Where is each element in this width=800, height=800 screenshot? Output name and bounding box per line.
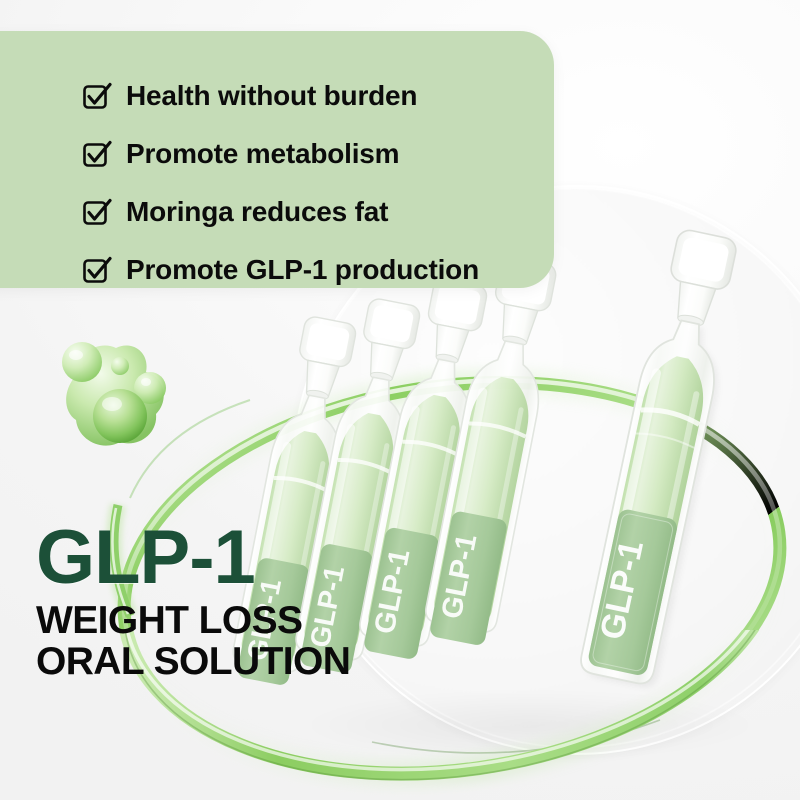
checkbox-checked-icon xyxy=(82,197,112,227)
feature-row: Health without burden xyxy=(82,75,479,117)
checkbox-checked-icon xyxy=(82,255,112,285)
feature-label: Moringa reduces fat xyxy=(126,198,388,226)
feature-row: Promote metabolism xyxy=(82,133,479,175)
headline-line-2: ORAL SOLUTION xyxy=(36,642,396,683)
features-list: Health without burden Promote metabolism xyxy=(82,75,479,291)
feature-label: Promote GLP-1 production xyxy=(126,256,479,284)
product-poster: GLP-1 GLP-1 xyxy=(0,0,800,800)
checkbox-checked-icon xyxy=(82,139,112,169)
headline-line-1: WEIGHT LOSS xyxy=(36,601,396,642)
features-panel: Health without burden Promote metabolism xyxy=(0,31,554,288)
brand-title: GLP-1 xyxy=(36,522,396,593)
feature-label: Promote metabolism xyxy=(126,140,399,168)
headline-block: GLP-1 WEIGHT LOSS ORAL SOLUTION xyxy=(36,522,396,683)
feature-label: Health without burden xyxy=(126,82,417,110)
feature-row: Promote GLP-1 production xyxy=(82,249,479,291)
checkbox-checked-icon xyxy=(82,81,112,111)
feature-row: Moringa reduces fat xyxy=(82,191,479,233)
